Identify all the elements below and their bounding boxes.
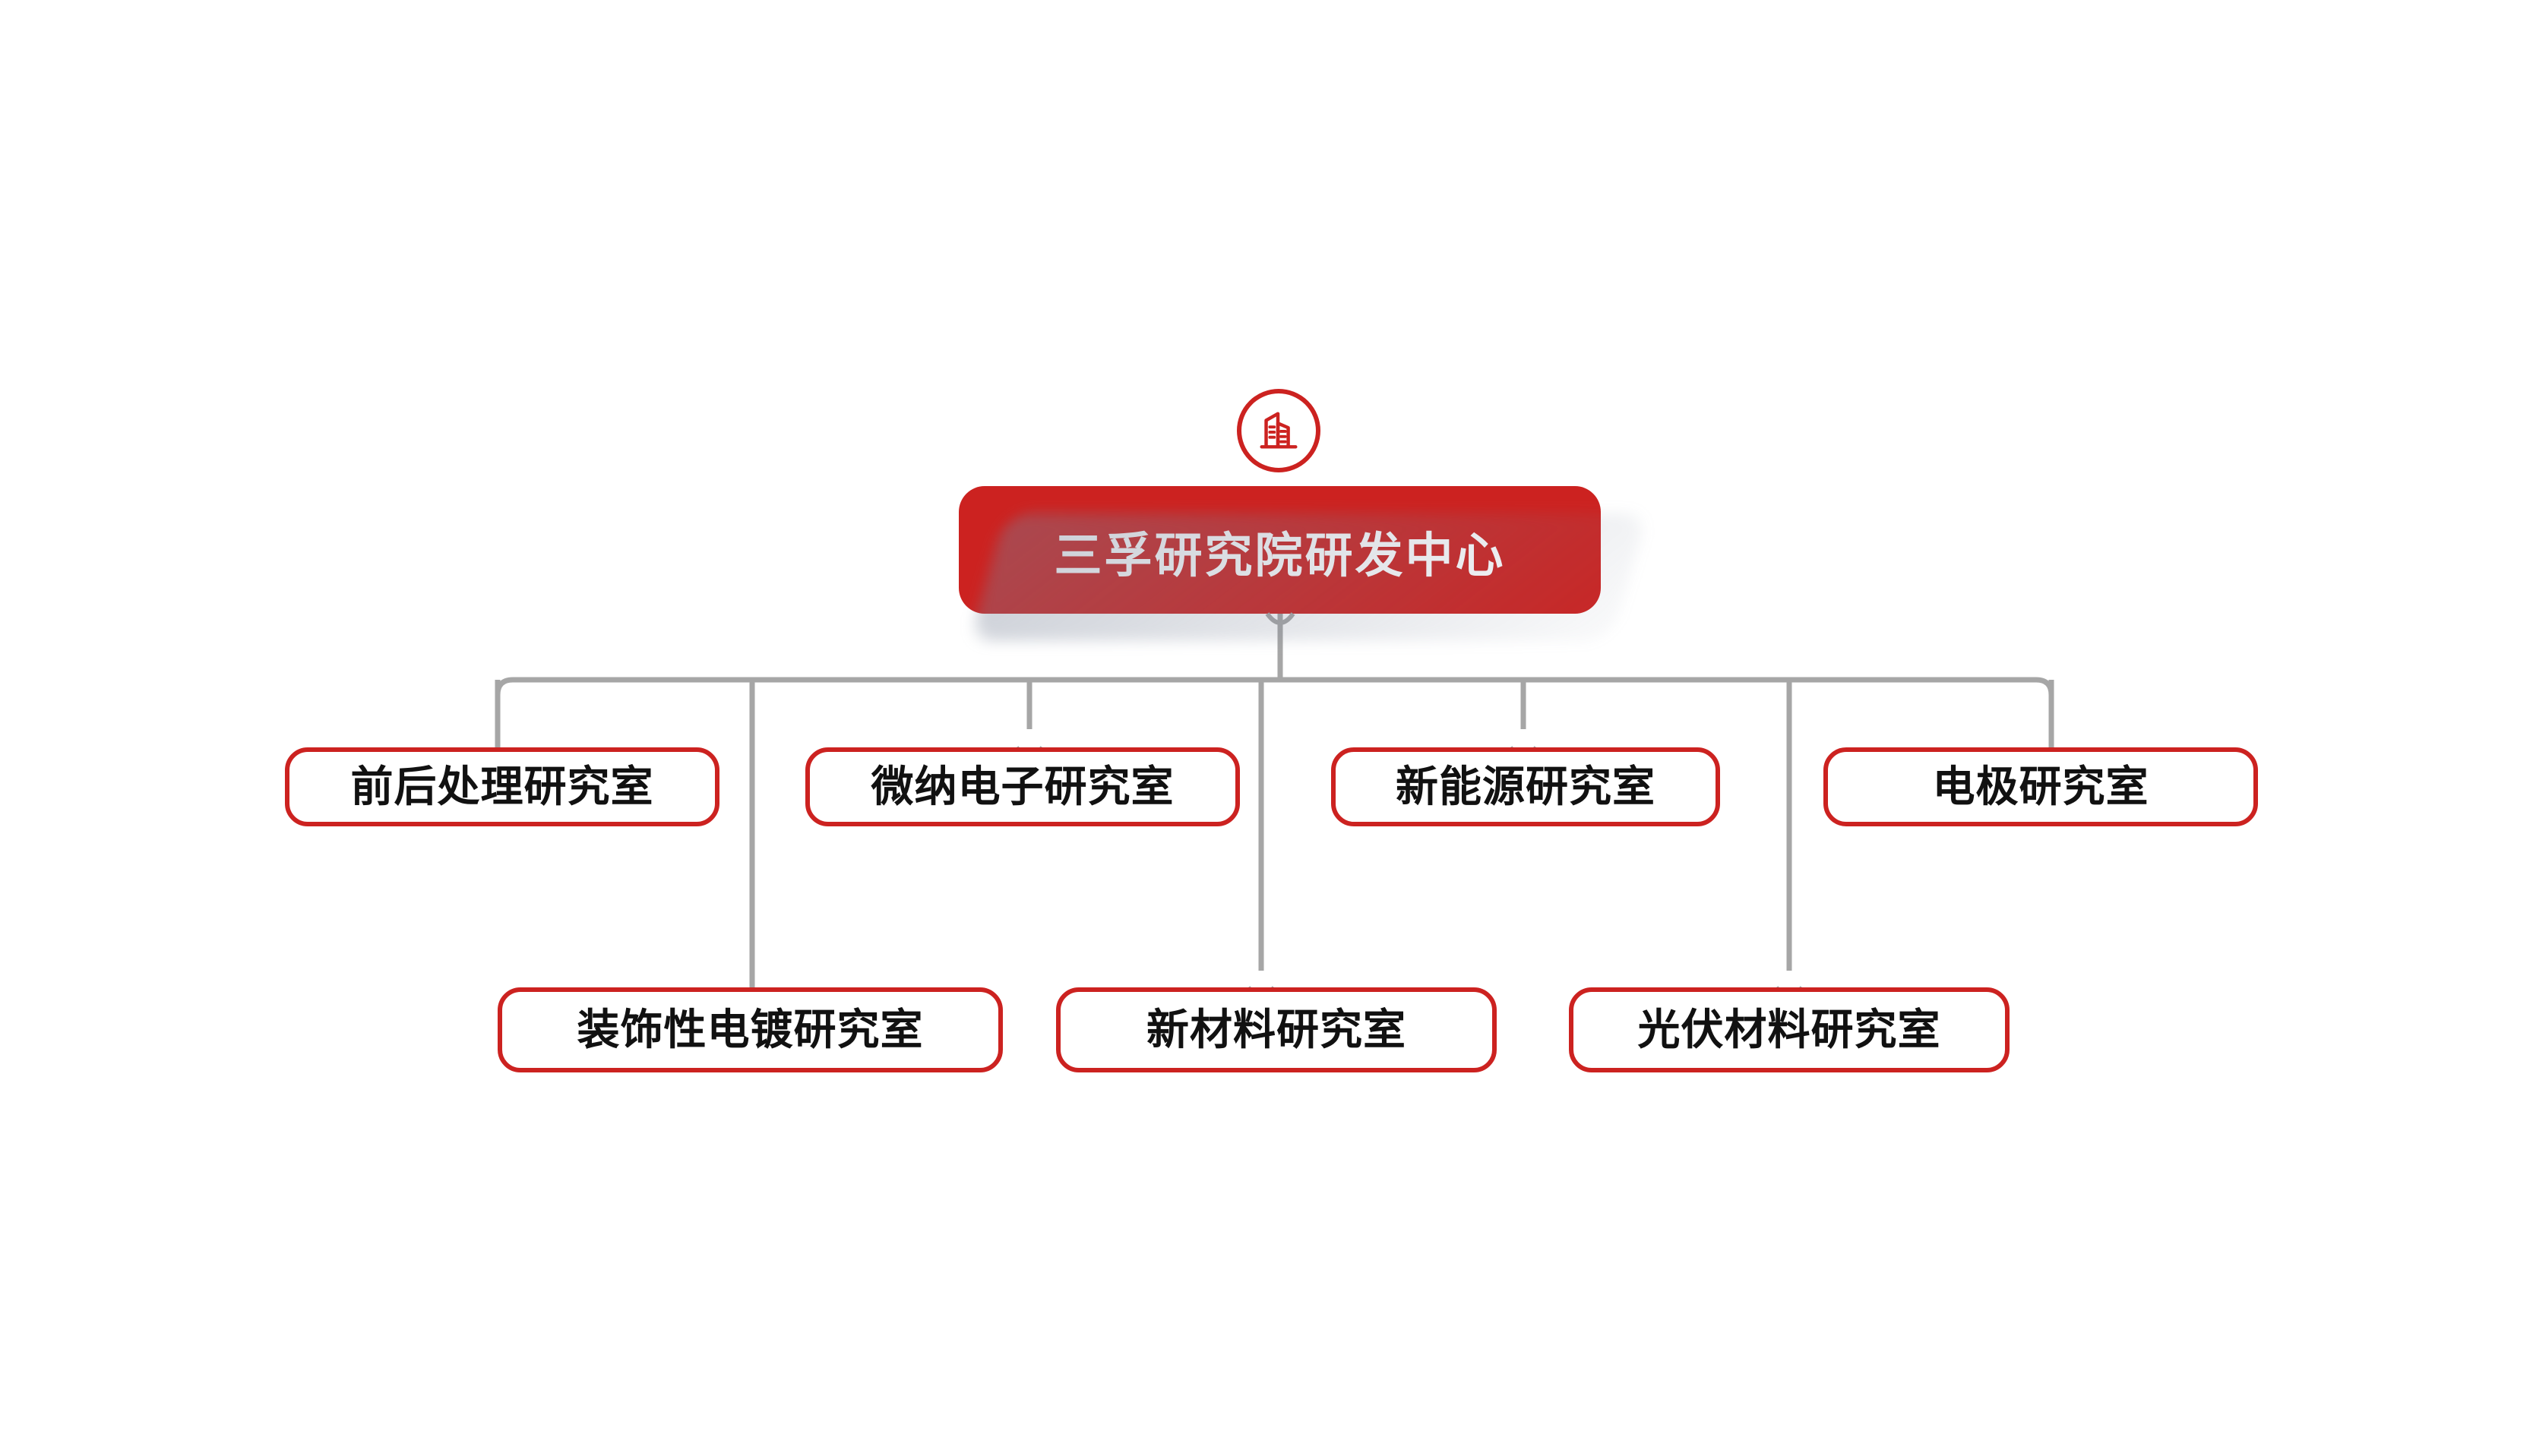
connector-layer	[0, 0, 2533, 1456]
org-node-n2[interactable]: 微纳电子研究室	[805, 747, 1240, 826]
org-node-n1[interactable]: 前后处理研究室	[285, 747, 719, 826]
org-chart-canvas: 三孚研究院研发中心 前后处理研究室 微纳电子研究室 新能源研究室 电极研究室	[0, 0, 2533, 1456]
org-node-n6[interactable]: 新材料研究室	[1056, 987, 1497, 1072]
root-node-shadow	[969, 513, 1648, 641]
org-node-label: 新材料研究室	[1146, 1009, 1406, 1051]
org-node-label: 电极研究室	[1933, 766, 2149, 808]
connector-bus	[498, 680, 2051, 725]
org-node-n7[interactable]: 光伏材料研究室	[1569, 987, 2010, 1072]
org-node-n5[interactable]: 装饰性电镀研究室	[498, 987, 1003, 1072]
org-node-label: 装饰性电镀研究室	[577, 1009, 924, 1051]
org-node-n4[interactable]: 电极研究室	[1823, 747, 2258, 826]
org-node-label: 微纳电子研究室	[871, 766, 1175, 808]
org-node-label: 新能源研究室	[1396, 766, 1655, 808]
org-node-label: 前后处理研究室	[351, 766, 654, 808]
building-icon	[1237, 389, 1320, 472]
org-node-n3[interactable]: 新能源研究室	[1331, 747, 1720, 826]
org-node-label: 光伏材料研究室	[1638, 1009, 1941, 1051]
